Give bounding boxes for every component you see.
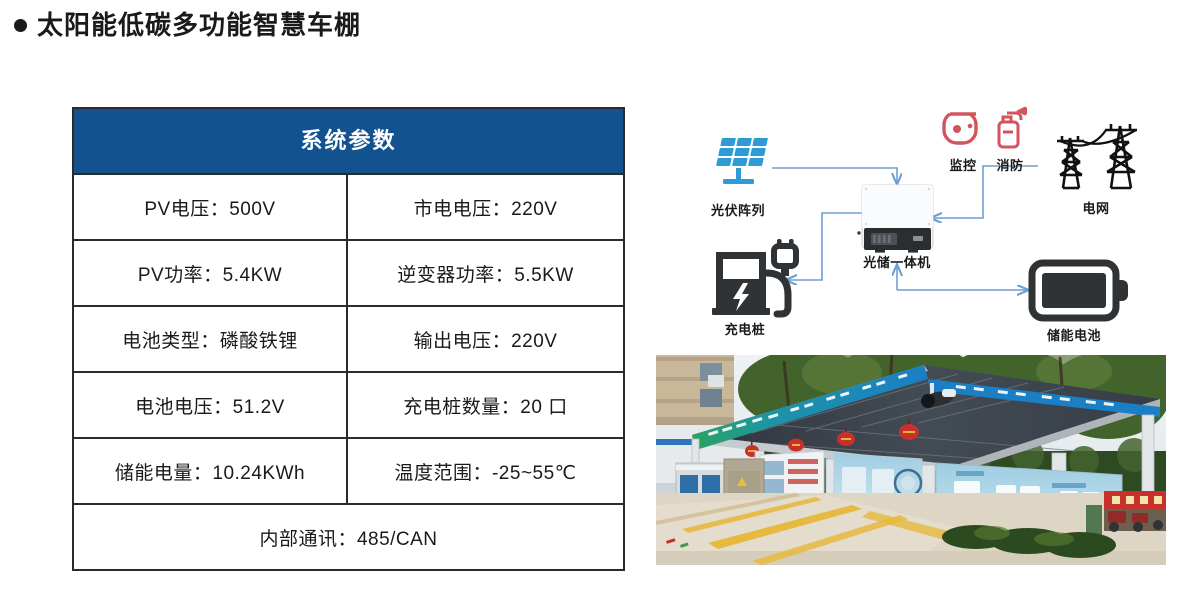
page-title-text: 太阳能低碳多功能智慧车棚: [37, 12, 361, 38]
table-cell-mains-voltage: 市电电压：220V: [348, 175, 623, 239]
table-cell-battery-voltage: 电池电压：51.2V: [74, 373, 348, 437]
table-cell-pv-power: PV功率：5.4KW: [74, 241, 348, 305]
table-cell-inverter-power: 逆变器功率：5.5KW: [348, 241, 623, 305]
cctv-lens-icon: [953, 125, 961, 133]
table-cell-charger-count: 充电桩数量：20 口: [348, 373, 623, 437]
diagram-label-battery: 储能电池: [1047, 325, 1101, 344]
power-tower-icon: [1057, 124, 1137, 188]
table-cell-output-voltage: 输出电压：220V: [348, 307, 623, 371]
table-header: 系统参数: [74, 109, 623, 175]
diagram-label-inverter: 光储一体机: [863, 252, 931, 271]
table-cell-pv-voltage: PV电压：500V: [74, 175, 348, 239]
inverter-box-icon: [857, 185, 933, 253]
diagram-label-charger: 充电桩: [725, 319, 766, 338]
table-row: 储能电量：10.24KWh 温度范围：-25~55℃: [74, 439, 623, 505]
table-row: PV电压：500V 市电电压：220V: [74, 175, 623, 241]
flow-pv-to-inverter: [772, 168, 897, 184]
table-cell-internal-comms: 内部通讯：485/CAN: [74, 505, 623, 569]
table-row: 内部通讯：485/CAN: [74, 505, 623, 569]
table-row: 电池类型：磷酸铁锂 输出电压：220V: [74, 307, 623, 373]
solar-panel-icon: [716, 138, 768, 184]
charging-pile-icon: [712, 239, 796, 315]
table-cell-battery-type: 电池类型：磷酸铁锂: [74, 307, 348, 371]
table-cell-temperature-range: 温度范围：-25~55℃: [348, 439, 623, 503]
diagram-label-monitor: 监控: [949, 155, 976, 174]
battery-icon: [1032, 263, 1128, 318]
diagram-label-pv: 光伏阵列: [711, 200, 765, 219]
fire-extinguisher-icon: [999, 107, 1027, 147]
table-cell-storage-capacity: 储能电量：10.24KWh: [74, 439, 348, 503]
carport-photo: [656, 355, 1166, 565]
diagram-label-fire: 消防: [996, 155, 1023, 174]
system-parameters-table: 系统参数 PV电压：500V 市电电压：220V PV功率：5.4KW 逆变器功…: [72, 107, 625, 571]
cctv-dot-icon: [968, 124, 973, 129]
table-row: 电池电压：51.2V 充电桩数量：20 口: [74, 373, 623, 439]
page-title: 太阳能低碳多功能智慧车棚: [14, 12, 361, 38]
diagram-label-grid: 电网: [1082, 198, 1109, 217]
table-row: PV功率：5.4KW 逆变器功率：5.5KW: [74, 241, 623, 307]
system-architecture-diagram: 光伏阵列 监控 消防 电网 光储一体机 充电桩 储能电池: [650, 100, 1190, 350]
bullet-dot-icon: [14, 19, 27, 32]
